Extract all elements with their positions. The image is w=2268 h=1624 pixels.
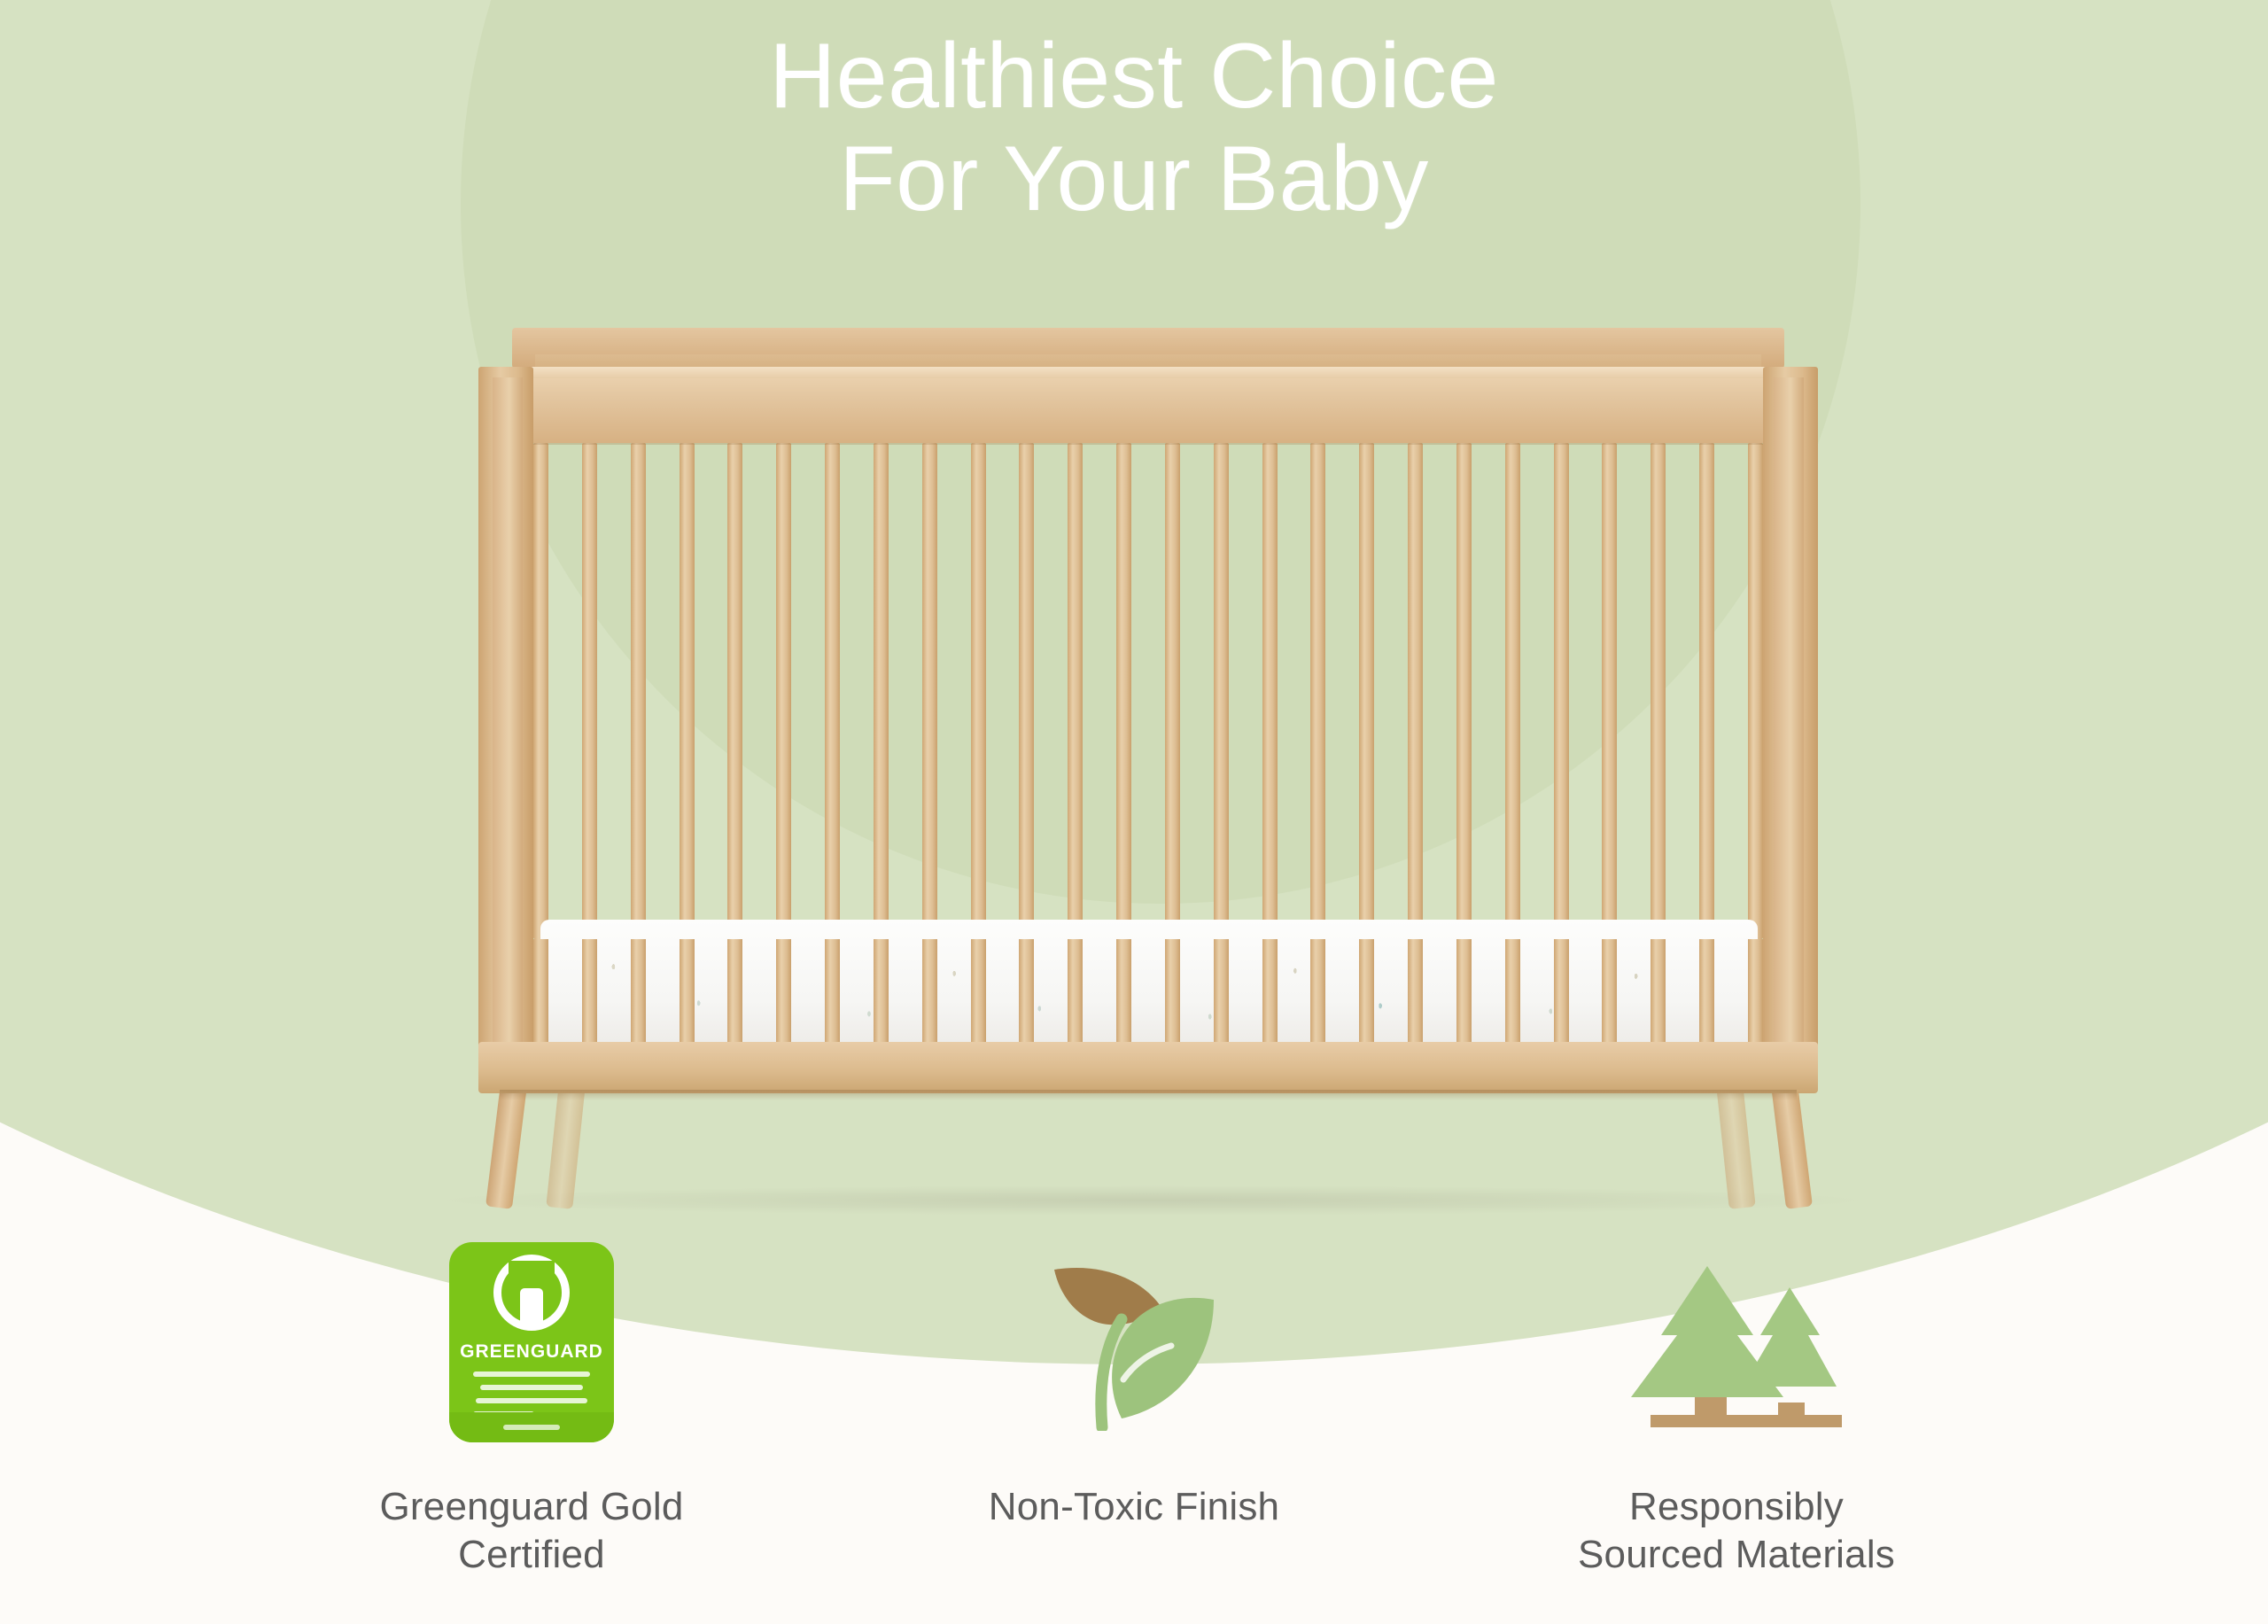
crib-rail-top-edge — [478, 367, 1818, 378]
pine-tree-large — [1631, 1266, 1783, 1397]
tree-log-right — [1757, 1415, 1842, 1427]
greenguard-badge-footer — [449, 1412, 614, 1442]
feature-row: GREENGUARD Greenguard Gold Certified — [0, 1240, 2268, 1578]
pine-trees-icon-svg — [1626, 1254, 1847, 1431]
crib-leg-front-right — [1772, 1090, 1813, 1209]
headline-line-2: For Your Baby — [0, 128, 2268, 230]
feature-caption-responsibly-sourced: Responsibly Sourced Materials — [1578, 1483, 1895, 1578]
tree-log-left — [1651, 1415, 1769, 1427]
crib-slats-lower-group: (function(){ var host = document.current… — [533, 443, 1763, 939]
crib-product-image: (function(){ var host = document.current… — [478, 328, 1825, 1196]
feature-responsibly-sourced: Responsibly Sourced Materials — [1506, 1240, 1967, 1578]
marketing-banner: Healthiest Choice For Your Baby (functio… — [0, 0, 2268, 1624]
crib-post-right-face — [1774, 377, 1804, 1051]
caption-line-1: Non-Toxic Finish — [989, 1483, 1279, 1531]
caption-line-2: Sourced Materials — [1578, 1531, 1895, 1579]
greenguard-gold-badge-icon-wrap: GREENGUARD — [449, 1240, 614, 1444]
crib-rail-bottom-shadow — [500, 1090, 1797, 1100]
feature-greenguard: GREENGUARD Greenguard Gold Certified — [301, 1240, 762, 1578]
caption-line-2: Certified — [380, 1531, 684, 1579]
crib-mattress-sheet — [540, 920, 1758, 1054]
caption-line-1: Responsibly — [1578, 1483, 1895, 1531]
leaf-icon — [1037, 1254, 1231, 1431]
feature-caption-greenguard: Greenguard Gold Certified — [380, 1483, 684, 1578]
feature-non-toxic: Non-Toxic Finish — [904, 1240, 1364, 1531]
crib-leg-front-left — [485, 1090, 526, 1209]
headline-line-1: Healthiest Choice — [769, 25, 1499, 128]
crib-leg-back-left — [546, 1090, 585, 1208]
pine-trees-icon-wrap — [1626, 1240, 1847, 1444]
feature-caption-non-toxic: Non-Toxic Finish — [989, 1483, 1279, 1531]
greenguard-logo-mark-icon — [493, 1255, 570, 1331]
crib-post-left-face — [493, 377, 523, 1051]
leaf-icon-svg — [1037, 1254, 1231, 1431]
crib-leg-back-right — [1717, 1090, 1756, 1208]
greenguard-gold-badge-icon: GREENGUARD — [449, 1242, 614, 1442]
greenguard-wordmark: GREENGUARD — [460, 1341, 603, 1363]
page-title: Healthiest Choice For Your Baby — [0, 25, 2268, 231]
crib-rail-bottom — [478, 1042, 1818, 1093]
caption-line-1: Greenguard Gold — [380, 1483, 684, 1531]
pine-trees-icon — [1626, 1254, 1847, 1431]
leaf-icon-wrap — [1037, 1240, 1231, 1444]
